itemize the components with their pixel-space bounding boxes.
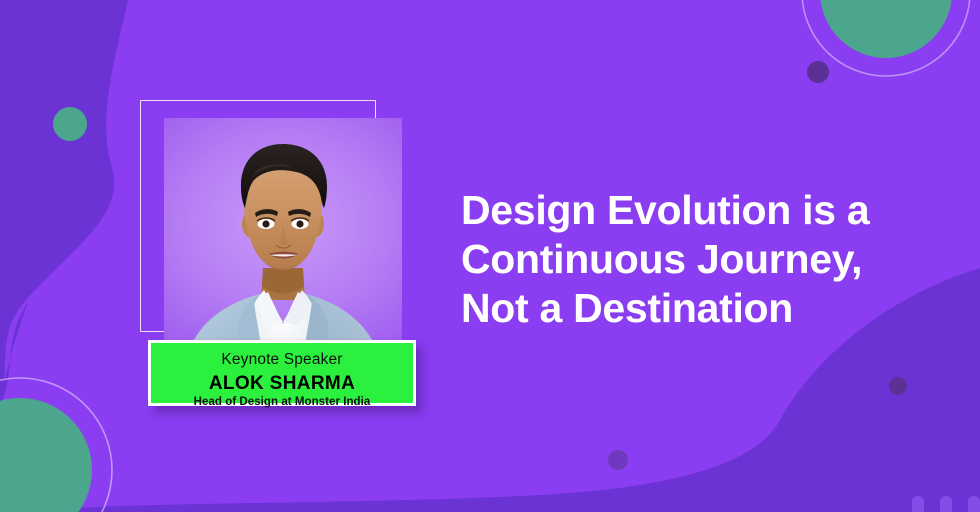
bar-1 [912, 496, 924, 512]
page-title: Design Evolution is a Continuous Journey… [461, 186, 931, 333]
bar-3 [968, 496, 980, 512]
speaker-role-label: Keynote Speaker [151, 350, 413, 369]
dot-bottom-right [889, 377, 907, 395]
headline-line-3: Not a Destination [461, 284, 931, 333]
speaker-name: ALOK SHARMA [151, 372, 413, 395]
headline-line-2: Continuous Journey, [461, 235, 931, 284]
bar-2 [940, 496, 952, 512]
speaker-name-badge: Keynote Speaker ALOK SHARMA Head of Desi… [148, 340, 416, 406]
dot-top-right [807, 61, 829, 83]
speaker-job-title: Head of Design at Monster India [151, 395, 413, 409]
speaker-photo-block [140, 100, 402, 368]
teal-circle-small-left [53, 107, 87, 141]
speaker-photo [164, 118, 402, 368]
headline-line-1: Design Evolution is a [461, 186, 931, 235]
slide-canvas: Keynote Speaker ALOK SHARMA Head of Desi… [0, 0, 980, 512]
dot-bottom-center [608, 450, 628, 470]
